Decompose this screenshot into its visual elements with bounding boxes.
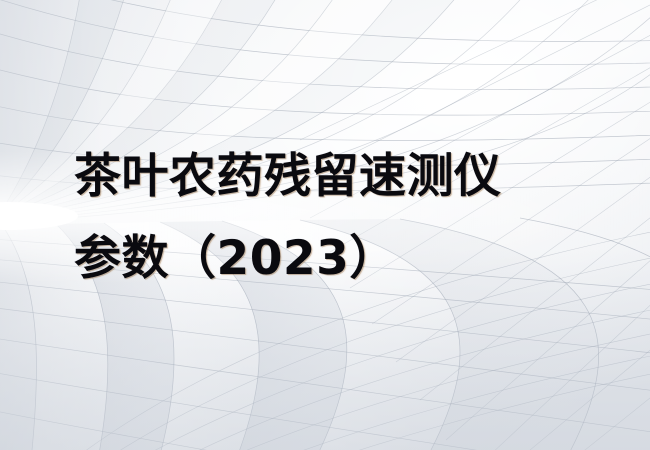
page-title: 茶叶农药残留速测仪 参数（2023） — [74, 136, 634, 300]
title-line-2: 参数（2023） — [74, 218, 634, 300]
title-banner: 茶叶农药残留速测仪 参数（2023） — [0, 0, 650, 450]
title-line-1: 茶叶农药残留速测仪 — [74, 136, 634, 218]
